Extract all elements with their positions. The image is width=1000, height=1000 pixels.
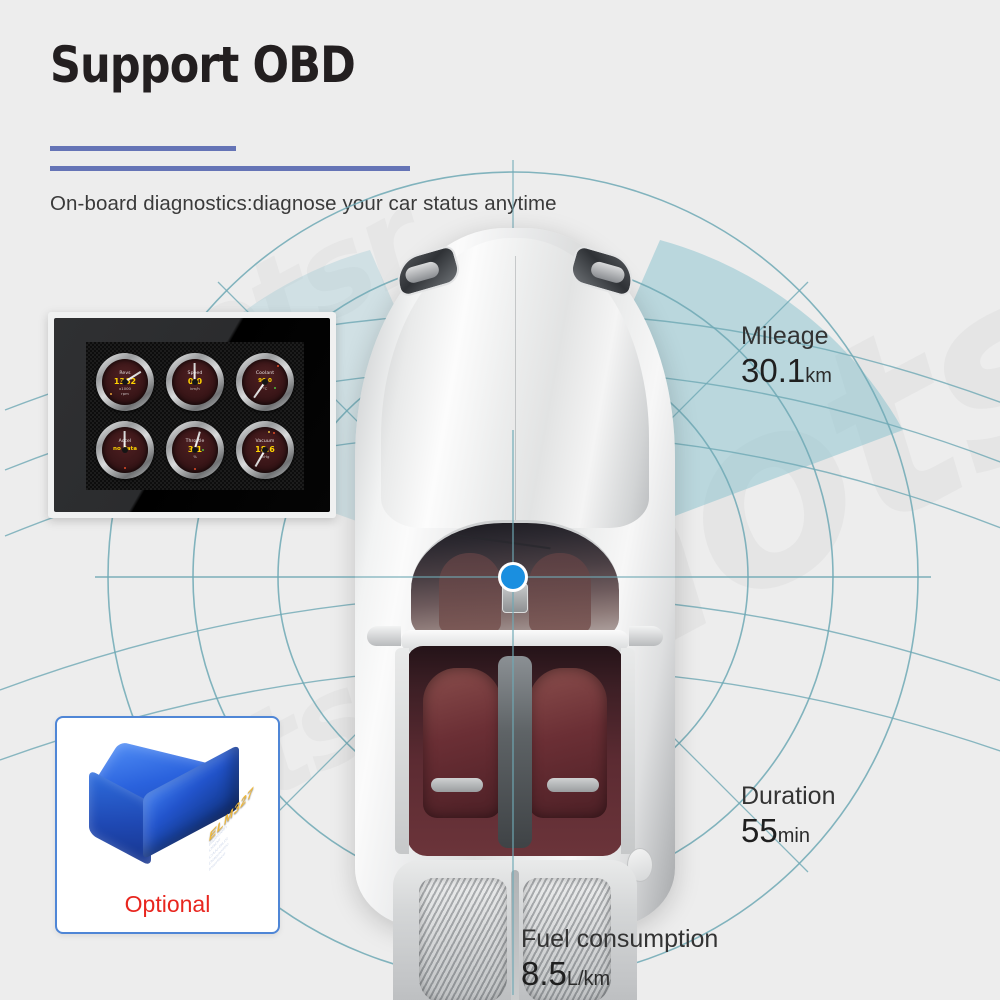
obd-adapter-card[interactable]: ELM327 Bluetooth OBDIICAN-BUS Diagnostic…	[55, 716, 280, 934]
gauge-unit: x1000rpm	[102, 387, 148, 396]
windshield	[411, 520, 619, 640]
windshield-seat-left	[439, 553, 501, 633]
seat-right	[529, 668, 607, 818]
car-top-view: Carrera GT	[355, 228, 675, 928]
stat-duration-value: 55min	[741, 811, 836, 851]
optional-caption: Optional	[57, 891, 278, 918]
center-console	[498, 656, 532, 848]
gauge-label: Coolant	[242, 371, 288, 376]
gauge-face: Throttle 3.1 %	[172, 427, 218, 473]
gauge-unit: km/h	[172, 387, 218, 392]
gauge-face: Speed 0.0 km/h	[172, 359, 218, 405]
gauge-revs[interactable]: Revs 1362 x1000rpm	[90, 348, 160, 416]
windshield-seat-right	[529, 553, 591, 633]
gauge-hub	[122, 379, 128, 385]
gauge-grid: Revs 1362 x1000rpm Speed 0.0 km/h	[86, 342, 304, 490]
stat-duration-unit: min	[778, 825, 810, 847]
stat-fuel-value: 8.5L/km	[521, 954, 718, 994]
stat-duration: Duration 55min	[741, 782, 836, 850]
gauge-warning-dot	[124, 467, 126, 469]
gauge-ok-dot	[274, 387, 276, 389]
gauge-accel[interactable]: Accel no data	[90, 416, 160, 484]
hood-center-line	[515, 256, 516, 526]
gauge-hub	[262, 447, 268, 453]
gauge-hub	[262, 379, 268, 385]
gauge-caution-dot	[268, 431, 270, 433]
wiper	[431, 531, 550, 550]
seat-left	[423, 668, 501, 818]
gauge-hub	[192, 379, 198, 385]
gauge-warning-dot	[277, 365, 279, 367]
obd-adapter-image: ELM327 Bluetooth OBDIICAN-BUS Diagnostic…	[85, 744, 245, 864]
rearview-mirror	[502, 583, 528, 613]
side-mirror-left	[367, 626, 401, 646]
gauge-speed[interactable]: Speed 0.0 km/h	[160, 348, 230, 416]
gauge-face: Vacuum 18.6 inHg	[242, 427, 288, 473]
engine-grille-left	[419, 878, 507, 1000]
seatbelt-left	[431, 778, 483, 792]
deck-center-gap	[511, 870, 519, 1000]
gauge-unit: °C	[242, 387, 288, 392]
door-sill-left	[395, 648, 409, 854]
door-sill-right	[621, 648, 635, 854]
product-feature-slide: aotsr aotsr aotsr Support OBD On-board d…	[0, 0, 1000, 1000]
gauge-face: Accel no data	[102, 427, 148, 473]
gauge-face: Revs 1362 x1000rpm	[102, 359, 148, 405]
gauge-warning-dot	[194, 468, 196, 470]
stat-duration-label: Duration	[741, 782, 836, 811]
stat-mileage-value: 30.1km	[741, 351, 832, 391]
gauge-hub	[122, 447, 128, 453]
cabin-interior	[407, 646, 623, 856]
stat-mileage-label: Mileage	[741, 322, 832, 351]
gauge-coolant[interactable]: Coolant 90.0 °C	[230, 348, 300, 416]
seatbelt-right	[547, 778, 599, 792]
stat-fuel-consumption: Fuel consumption 8.5L/km	[521, 925, 718, 993]
stat-mileage-unit: km	[805, 365, 832, 387]
stat-fuel-label: Fuel consumption	[521, 925, 718, 954]
gauge-unit: %	[172, 455, 218, 460]
gauge-screen: Revs 1362 x1000rpm Speed 0.0 km/h	[54, 318, 330, 512]
gauge-throttle[interactable]: Throttle 3.1 %	[160, 416, 230, 484]
gauge-label: Vacuum	[242, 439, 288, 444]
gauge-warning-dot	[273, 432, 275, 434]
stat-mileage: Mileage 30.1km	[741, 322, 832, 390]
side-mirror-right	[629, 626, 663, 646]
gauge-unit: inHg	[242, 455, 288, 460]
stat-fuel-unit: L/km	[567, 968, 610, 990]
gauge-vacuum[interactable]: Vacuum 18.6 inHg	[230, 416, 300, 484]
gauge-hub	[192, 447, 198, 453]
obd-gauge-display[interactable]: Revs 1362 x1000rpm Speed 0.0 km/h	[48, 312, 336, 518]
gauge-face: Coolant 90.0 °C	[242, 359, 288, 405]
